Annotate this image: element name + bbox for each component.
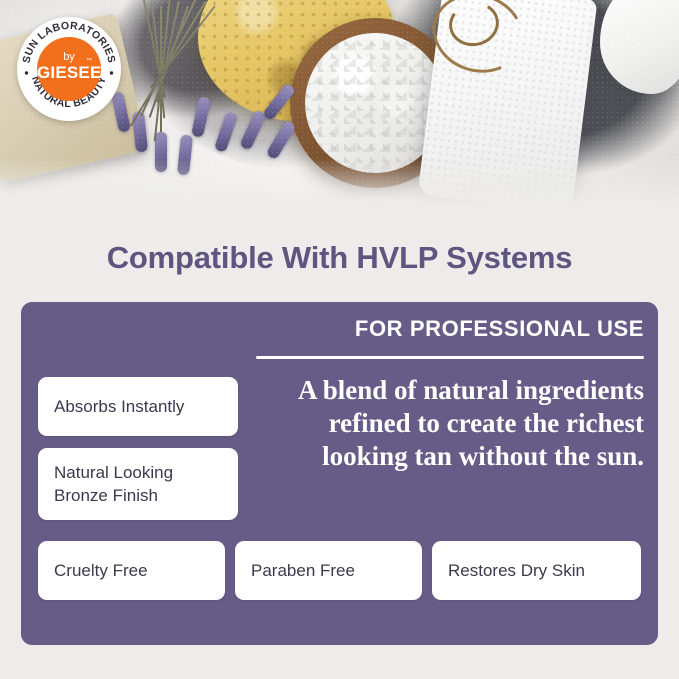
divider xyxy=(256,356,644,359)
feature-pill-bronze-finish: Natural Looking Bronze Finish xyxy=(38,448,238,520)
feature-pill-paraben-free: Paraben Free xyxy=(235,541,422,600)
feature-pill-row: Cruelty Free Paraben Free Restores Dry S… xyxy=(38,541,641,600)
feature-label: Restores Dry Skin xyxy=(448,561,585,581)
features-panel: FOR PROFESSIONAL USE A blend of natural … xyxy=(21,302,658,645)
feature-pill-restores-dry-skin: Restores Dry Skin xyxy=(432,541,641,600)
feature-pill-cruelty-free: Cruelty Free xyxy=(38,541,225,600)
feature-pill-absorbs-instantly: Absorbs Instantly xyxy=(38,377,238,436)
logo-brand-name: GIESEE xyxy=(37,63,101,82)
feature-label: Natural Looking Bronze Finish xyxy=(54,461,222,507)
product-infographic: SUN LABORATORIES NATURAL BEAUTY by GIESE… xyxy=(0,0,679,679)
brand-logo: SUN LABORATORIES NATURAL BEAUTY by GIESE… xyxy=(17,17,121,121)
feature-label: Cruelty Free xyxy=(54,561,148,581)
trademark-icon: ™ xyxy=(86,58,92,64)
feature-label: Paraben Free xyxy=(251,561,355,581)
logo-inner-circle: by GIESEE ™ xyxy=(37,37,101,101)
feature-label: Absorbs Instantly xyxy=(54,397,184,417)
logo-dot xyxy=(25,71,28,74)
photo-fade xyxy=(0,158,679,212)
page-title: Compatible With HVLP Systems xyxy=(0,240,679,276)
professional-column: FOR PROFESSIONAL USE A blend of natural … xyxy=(256,316,644,473)
product-description: A blend of natural ingredients refined t… xyxy=(256,374,644,473)
logo-dot xyxy=(110,71,113,74)
professional-use-heading: FOR PROFESSIONAL USE xyxy=(256,316,644,342)
